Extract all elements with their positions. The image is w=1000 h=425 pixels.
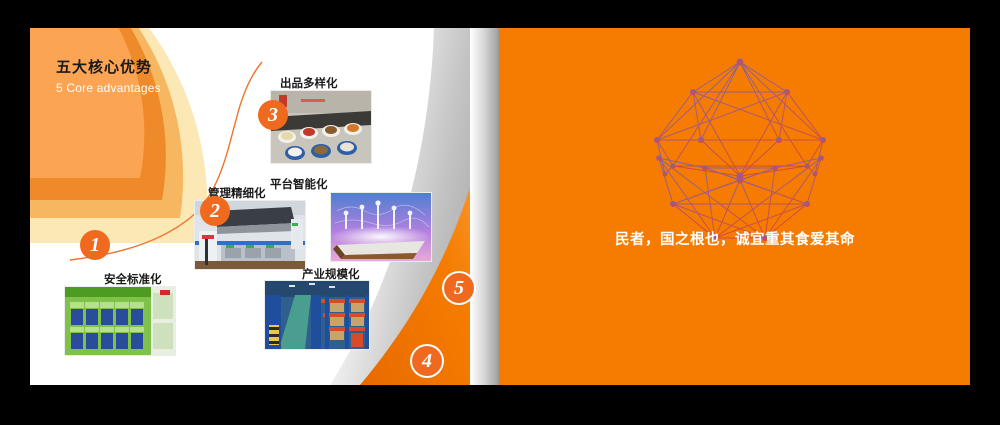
- marker-1-number: 1: [90, 235, 100, 255]
- marker-1[interactable]: 1: [80, 230, 110, 260]
- smart-platform-tablet-image: [331, 193, 431, 261]
- marker-3-number: 3: [268, 105, 278, 125]
- polygonal-globe-network-graphic: [635, 48, 845, 258]
- caption-3: 出品多样化: [280, 75, 338, 91]
- slogan-text: 民者，国之根也，诚宜重其食爱其命: [500, 228, 970, 249]
- marker-5[interactable]: 5: [444, 273, 474, 303]
- marker-4[interactable]: 4: [412, 346, 442, 376]
- warehouse-racking-photo[interactable]: [264, 280, 370, 350]
- page-gutter-shadow: [470, 28, 500, 385]
- marker-5-number: 5: [454, 278, 464, 298]
- marker-3[interactable]: 3: [258, 100, 288, 130]
- caption-1: 安全标准化: [104, 271, 162, 287]
- smart-platform-tablet-photo[interactable]: [330, 192, 432, 262]
- food-bowls-line-photo[interactable]: [270, 90, 372, 164]
- marker-2[interactable]: 2: [200, 196, 230, 226]
- marker-2-number: 2: [210, 201, 220, 221]
- title-block: 五大核心优势 5 Core advantages: [56, 56, 161, 95]
- brochure-spread: 五大核心优势 5 Core advantages 1 安全标准化: [0, 0, 1000, 425]
- caption-5: 平台智能化: [270, 176, 328, 192]
- warehouse-racking-image: [265, 281, 369, 349]
- left-page: 五大核心优势 5 Core advantages 1 安全标准化: [30, 28, 500, 385]
- caption-4: 产业规模化: [302, 266, 360, 282]
- safety-standards-board-image: [65, 287, 175, 355]
- page-title-en: 5 Core advantages: [56, 81, 161, 95]
- marker-4-number: 4: [422, 351, 432, 371]
- safety-standards-board-photo[interactable]: [64, 286, 176, 356]
- food-bowls-line-image: [271, 91, 371, 163]
- right-page: 民者，国之根也，诚宜重其食爱其命: [500, 28, 970, 385]
- page-title-cn: 五大核心优势: [56, 56, 161, 77]
